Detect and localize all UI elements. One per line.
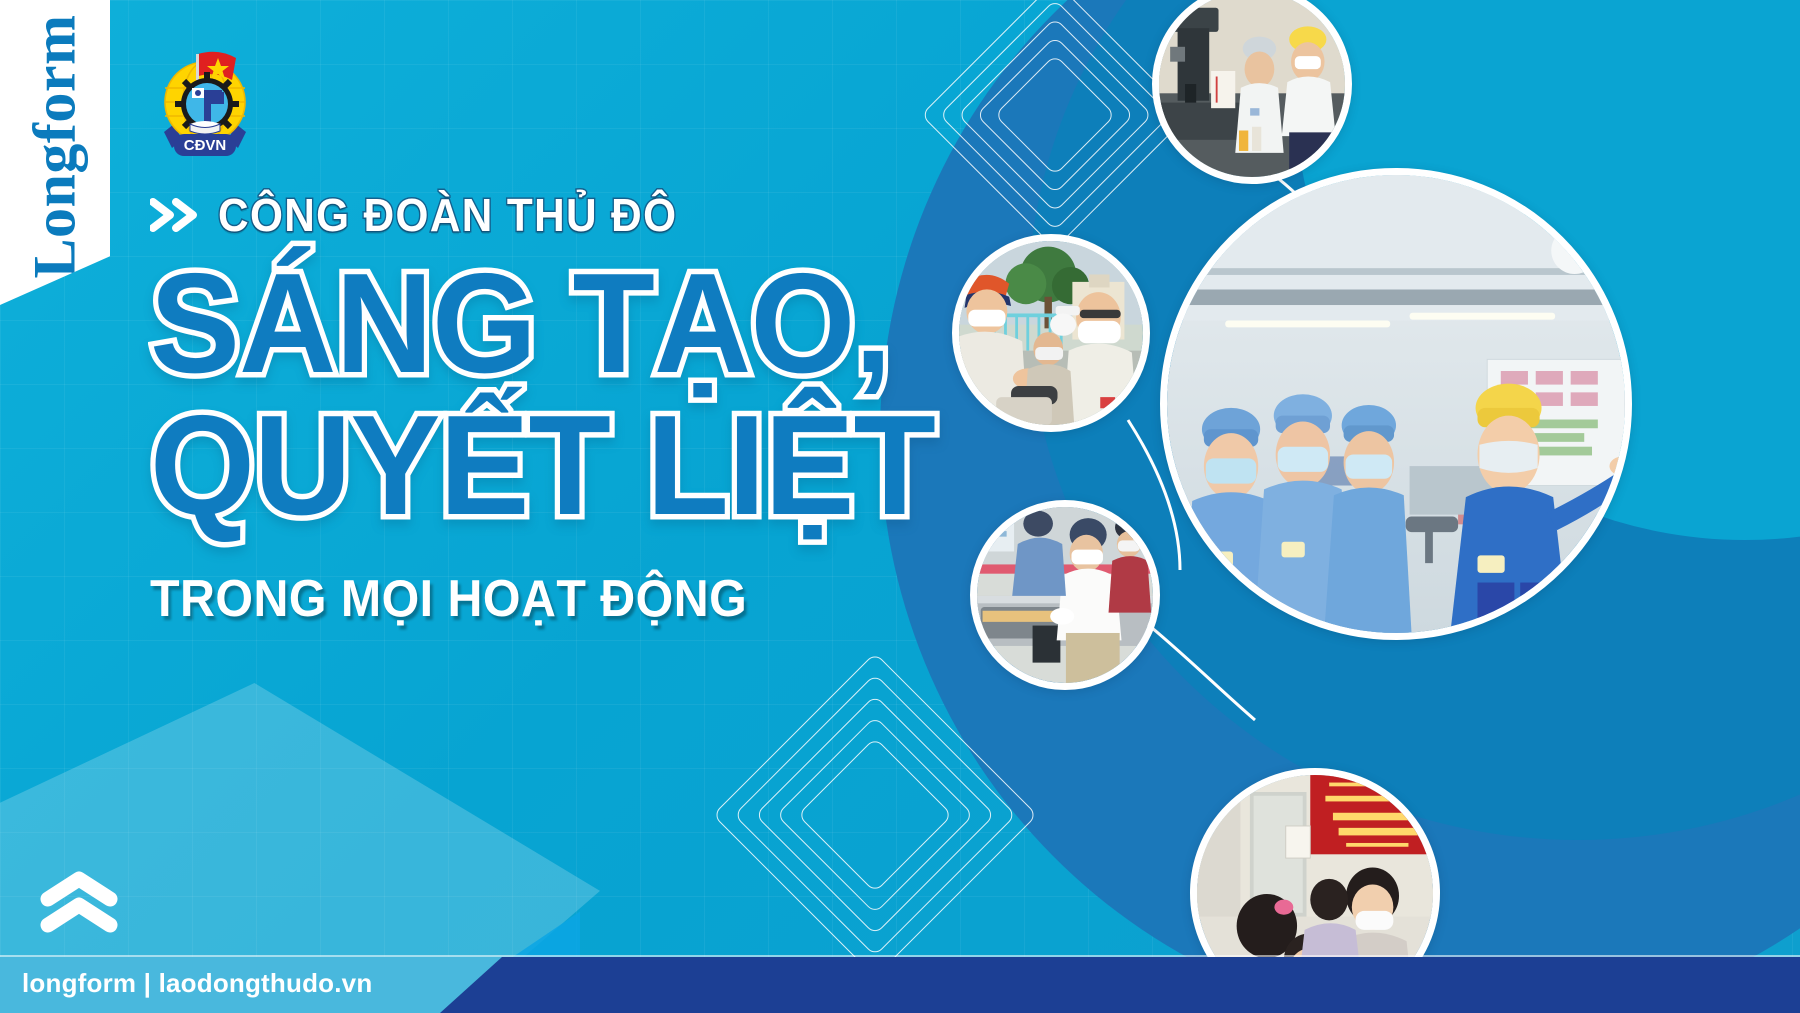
diamond-top-decoration-icon	[960, 20, 1150, 210]
photo-canteen-service	[970, 500, 1160, 690]
footer-bar-dark	[440, 957, 1800, 1013]
footer-divider	[0, 955, 1800, 957]
photo-factory-line-briefing	[1160, 168, 1632, 640]
headline-line-2: QUYẾT LIỆT	[150, 398, 929, 534]
kicker-row: CÔNG ĐOÀN THỦ ĐÔ	[150, 188, 970, 242]
headline-line-1: SÁNG TẠO,	[150, 256, 929, 392]
double-chevron-up-icon[interactable]	[40, 871, 118, 933]
emblem-caption: CĐVN	[184, 137, 227, 154]
headline-subline: TRONG MỌI HOẠT ĐỘNG	[150, 569, 913, 629]
longform-tab-label: Longform	[21, 11, 90, 283]
longform-banner: CĐVN CÔNG ĐOÀN THỦ ĐÔ SÁNG TẠO, QUYẾT LI…	[0, 0, 1800, 1013]
cong-doan-viet-nam-emblem: CĐVN	[150, 48, 260, 166]
photo-workshop-machining	[1152, 0, 1352, 184]
diamond-bottom-decoration-icon	[760, 700, 990, 930]
photo-temperature-check	[952, 234, 1150, 432]
longform-tab: Longform	[0, 0, 110, 305]
kicker-text: CÔNG ĐOÀN THỦ ĐÔ	[218, 188, 677, 242]
headline-block: CĐVN CÔNG ĐOÀN THỦ ĐÔ SÁNG TẠO, QUYẾT LI…	[150, 48, 970, 629]
footer-site-label[interactable]: longform | laodongthudo.vn	[22, 968, 372, 999]
double-chevron-right-icon	[150, 198, 202, 232]
